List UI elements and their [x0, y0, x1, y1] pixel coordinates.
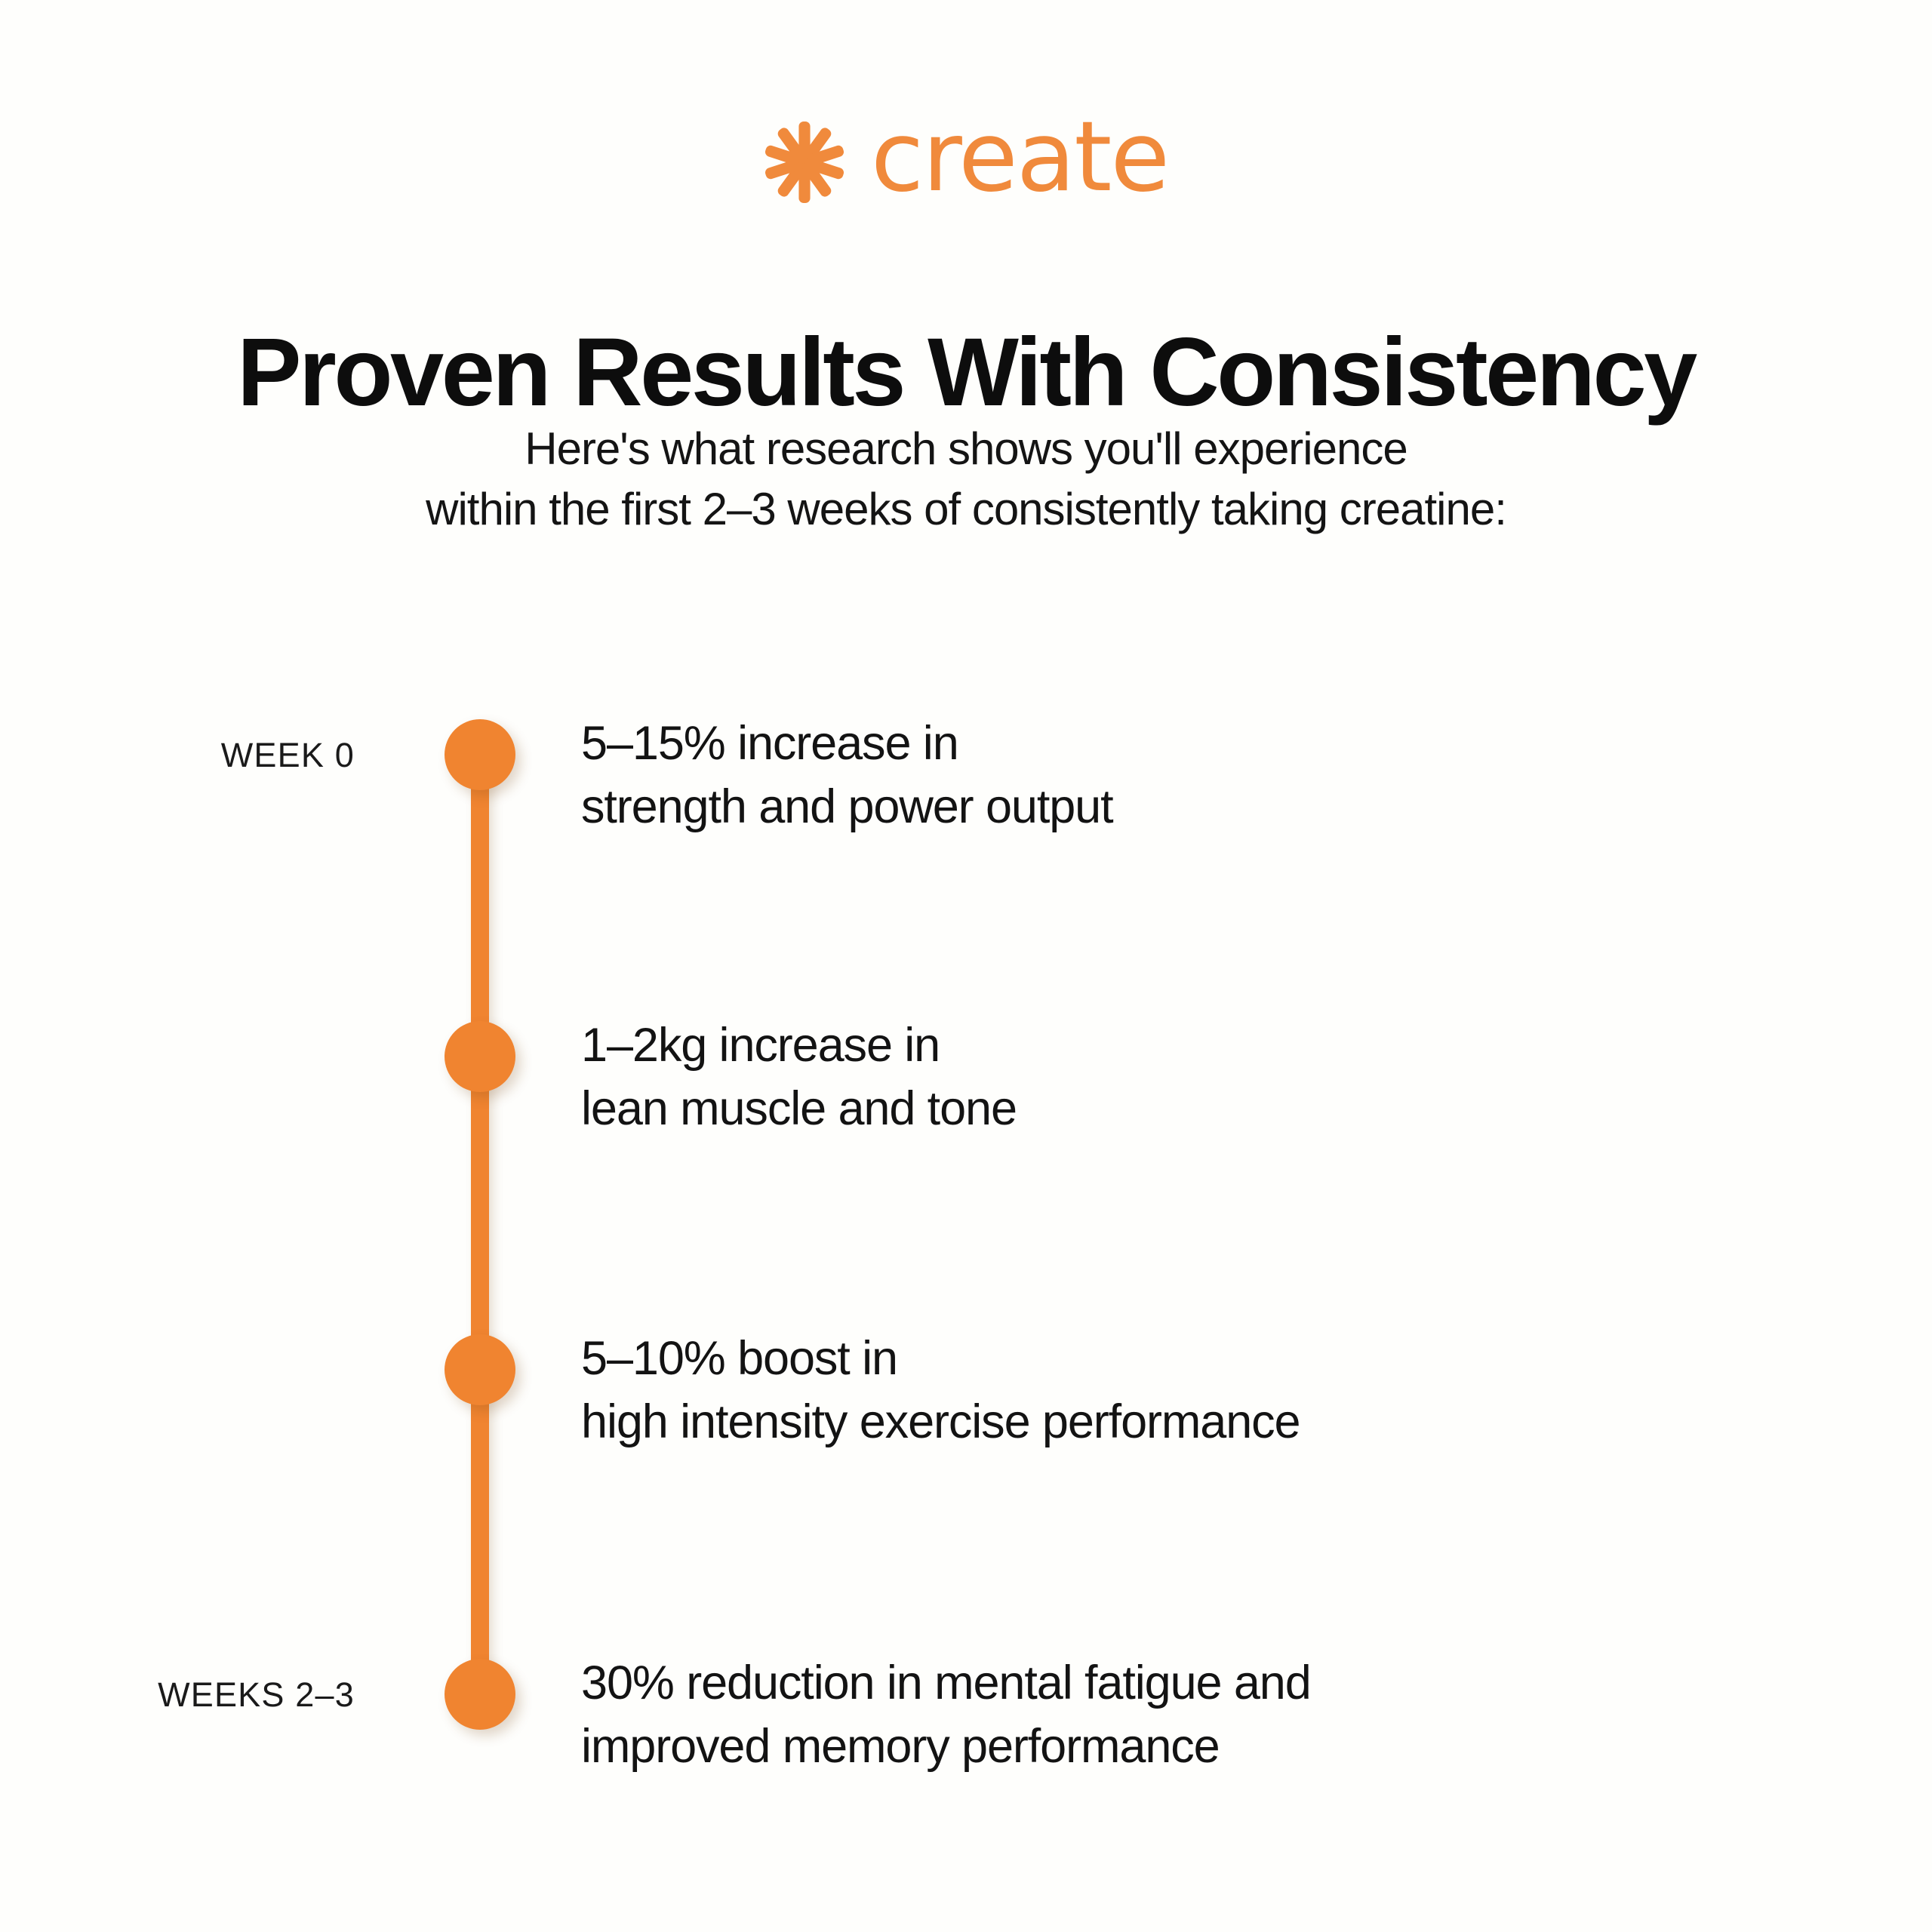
timeline-item-4-line-2: improved memory performance: [581, 1715, 1849, 1779]
timeline-node-1: [445, 719, 515, 790]
timeline-item-2-line-1: 1–2kg increase in: [581, 1014, 1849, 1078]
timeline-node-3: [445, 1334, 515, 1405]
timeline-track-line: [471, 755, 489, 1694]
timeline-node-2: [445, 1021, 515, 1092]
timeline-item-1-line-1: 5–15% increase in: [581, 712, 1849, 776]
timeline-item-1: 5–15% increase in strength and power out…: [581, 712, 1849, 839]
timeline-item-1-line-2: strength and power output: [581, 776, 1849, 839]
timeline-stage-label-start: WEEK 0: [0, 738, 355, 772]
timeline-item-4: 30% reduction in mental fatigue and impr…: [581, 1652, 1849, 1779]
timeline-stage-label-end: WEEKS 2–3: [0, 1678, 355, 1712]
timeline-item-3: 5–10% boost in high intensity exercise p…: [581, 1327, 1849, 1454]
timeline-item-2: 1–2kg increase in lean muscle and tone: [581, 1014, 1849, 1141]
timeline-item-3-line-1: 5–10% boost in: [581, 1327, 1849, 1391]
timeline-item-2-line-2: lean muscle and tone: [581, 1078, 1849, 1141]
timeline-node-4: [445, 1659, 515, 1730]
results-timeline: WEEK 0 5–15% increase in strength and po…: [0, 0, 1932, 1932]
timeline-item-4-line-1: 30% reduction in mental fatigue and: [581, 1652, 1849, 1715]
timeline-item-3-line-2: high intensity exercise performance: [581, 1391, 1849, 1454]
